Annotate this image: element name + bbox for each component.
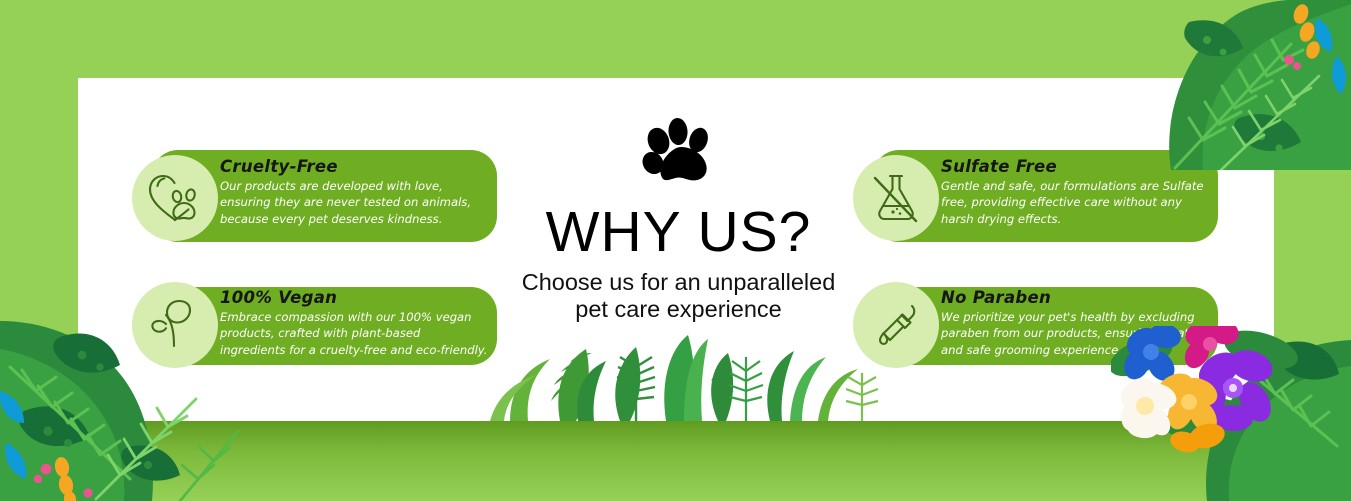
feature-text-vegan: 100% Vegan Embrace compassion with our 1… <box>220 289 488 358</box>
plant-sprout-icon <box>146 296 204 354</box>
plant-sprout-icon-circle <box>132 282 218 368</box>
heart-paw-icon-circle <box>132 155 218 241</box>
feature-text-cruelty-free: Cruelty-Free Our products are developed … <box>220 158 488 227</box>
center-heading-block: WHY US? Choose us for an unparalleled pe… <box>506 118 851 322</box>
bottom-green-strip <box>0 421 1351 501</box>
feature-text-no-paraben: No Paraben We prioritize your pet's heal… <box>941 289 1213 358</box>
feature-description: Our products are developed with love, en… <box>220 178 488 227</box>
feature-text-sulfate-free: Sulfate Free Gentle and safe, our formul… <box>941 158 1213 227</box>
heart-paw-icon <box>144 169 206 227</box>
feature-title: Cruelty-Free <box>220 158 488 177</box>
feature-title: Sulfate Free <box>941 158 1213 177</box>
no-flask-icon-circle <box>853 155 939 241</box>
feature-description: Gentle and safe, our formulations are Su… <box>941 178 1213 227</box>
page-subtitle: Choose us for an unparalleled pet care e… <box>506 269 851 322</box>
paw-print-icon <box>640 118 718 190</box>
no-flask-icon <box>866 168 926 228</box>
feature-title: 100% Vegan <box>220 289 488 308</box>
banner-stage: WHY US? Choose us for an unparalleled pe… <box>0 0 1351 501</box>
subtitle-line-1: Choose us for an unparalleled <box>522 269 836 295</box>
page-title: WHY US? <box>506 204 851 261</box>
dropper-icon-circle <box>853 282 939 368</box>
feature-description: Embrace compassion with our 100% vegan p… <box>220 309 488 358</box>
feature-description: We prioritize your pet's health by exclu… <box>941 309 1213 358</box>
dropper-icon <box>866 295 926 355</box>
subtitle-line-2: pet care experience <box>575 296 781 322</box>
feature-title: No Paraben <box>941 289 1213 308</box>
